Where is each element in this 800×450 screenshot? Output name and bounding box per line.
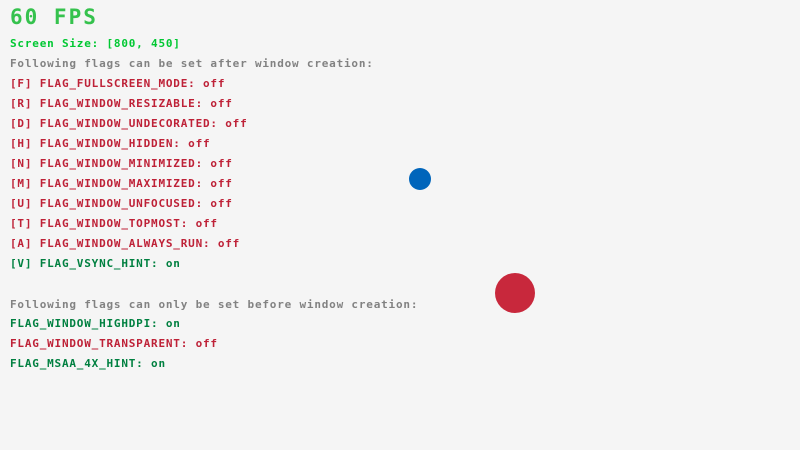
flag-toggle-flag-window-hidden[interactable]: [H] FLAG_WINDOW_HIDDEN: off: [10, 138, 210, 149]
flag-toggle-flag-window-unfocused[interactable]: [U] FLAG_WINDOW_UNFOCUSED: off: [10, 198, 233, 209]
flag-toggle-flag-vsync-hint[interactable]: [V] FLAG_VSYNC_HINT: on: [10, 258, 181, 269]
flag-static-flag-msaa-4x-hint[interactable]: FLAG_MSAA_4X_HINT: on: [10, 358, 166, 369]
flag-toggle-flag-fullscreen-mode[interactable]: [F] FLAG_FULLSCREEN_MODE: off: [10, 78, 225, 89]
flag-toggle-flag-window-always-run[interactable]: [A] FLAG_WINDOW_ALWAYS_RUN: off: [10, 238, 240, 249]
blue-ball-shape: [409, 168, 431, 190]
flag-toggle-flag-window-resizable[interactable]: [R] FLAG_WINDOW_RESIZABLE: off: [10, 98, 233, 109]
flag-toggle-flag-window-topmost[interactable]: [T] FLAG_WINDOW_TOPMOST: off: [10, 218, 218, 229]
startup-flags-header: Following flags can only be set before w…: [10, 299, 418, 310]
raylib-window-canvas[interactable]: 60 FPS Screen Size: [800, 450] Following…: [0, 0, 800, 450]
red-ball-shape: [495, 273, 535, 313]
screen-size-label: Screen Size: [800, 450]: [10, 38, 181, 49]
flag-static-flag-window-transparent[interactable]: FLAG_WINDOW_TRANSPARENT: off: [10, 338, 218, 349]
runtime-flags-header: Following flags can be set after window …: [10, 58, 374, 69]
flag-toggle-flag-window-undecorated[interactable]: [D] FLAG_WINDOW_UNDECORATED: off: [10, 118, 248, 129]
flag-toggle-flag-window-minimized[interactable]: [N] FLAG_WINDOW_MINIMIZED: off: [10, 158, 233, 169]
flag-static-flag-window-highdpi[interactable]: FLAG_WINDOW_HIGHDPI: on: [10, 318, 181, 329]
flag-toggle-flag-window-maximized[interactable]: [M] FLAG_WINDOW_MAXIMIZED: off: [10, 178, 233, 189]
fps-counter: 60 FPS: [10, 7, 98, 28]
